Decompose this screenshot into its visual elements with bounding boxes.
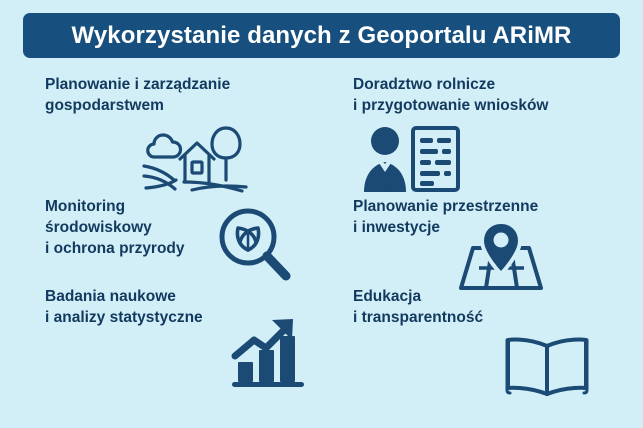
- item-label: Doradztwo rolnicze i przygotowanie wnios…: [353, 74, 643, 116]
- item-doradztwo-rolnicze: Doradztwo rolnicze i przygotowanie wnios…: [353, 74, 643, 116]
- bar-chart-growth-icon: [230, 314, 310, 390]
- title-banner: Wykorzystanie danych z Geoportalu ARiMR: [23, 13, 620, 58]
- item-planowanie-przestrzenne: Planowanie przestrzenne i inwestycje: [353, 196, 643, 238]
- map-pin-icon: [453, 218, 549, 294]
- magnifier-leaf-icon: [217, 206, 293, 284]
- item-label: Edukacja i transparentność: [353, 286, 643, 328]
- item-monitoring-srodowiskowy: Monitoring środowiskowy i ochrona przyro…: [45, 196, 345, 259]
- content-columns: Planowanie i zarządzanie gospodarstwem: [0, 58, 643, 428]
- left-column: Planowanie i zarządzanie gospodarstwem: [45, 58, 345, 428]
- open-book-icon: [503, 328, 591, 400]
- infographic-root: Wykorzystanie danych z Geoportalu ARiMR …: [0, 0, 643, 428]
- item-label: Monitoring środowiskowy i ochrona przyro…: [45, 196, 345, 259]
- page-title: Wykorzystanie danych z Geoportalu ARiMR: [72, 24, 572, 48]
- item-edukacja-transparentnosc: Edukacja i transparentność: [353, 286, 643, 328]
- item-label: Planowanie i zarządzanie gospodarstwem: [45, 74, 345, 116]
- right-column: Doradztwo rolnicze i przygotowanie wnios…: [353, 58, 643, 428]
- farm-landscape-icon: [140, 122, 250, 194]
- item-badania-naukowe: Badania naukowe i analizy statystyczne: [45, 286, 345, 328]
- item-planowanie-zarzadzanie: Planowanie i zarządzanie gospodarstwem: [45, 74, 345, 116]
- advisor-document-icon: [358, 124, 462, 196]
